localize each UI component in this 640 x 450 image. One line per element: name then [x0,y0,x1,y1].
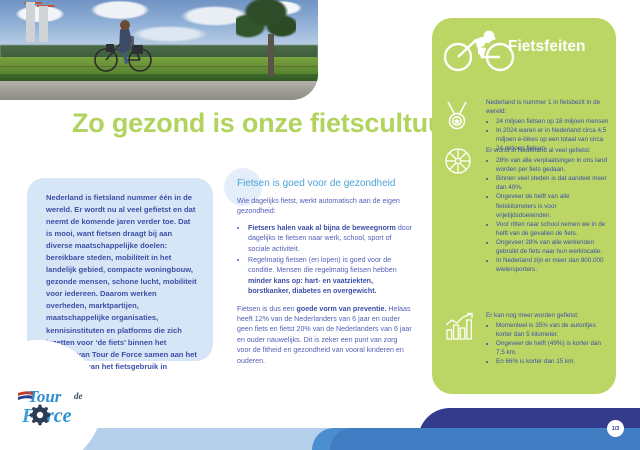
list-item: Voor ritten naar school nemen we in de h… [496,220,610,238]
bullet-bold-tail: minder kans op: hart- en vaatziekten, bo… [248,277,377,295]
facts-panel: Fietsfeiten Nederland is nummer 1 in fie… [432,18,616,394]
road-surface [0,81,318,100]
facts-section-list: Momenteel is 35% van de autoritjes korte… [486,321,610,366]
growth-chart-icon [444,312,476,342]
facts-section-3: Er kan nog meer worden gefietst: Momente… [486,311,610,367]
large-tree [236,0,296,70]
svg-text:Tour: Tour [28,387,62,406]
tower-buildings [26,2,52,42]
list-item: 28% van alle verplaatsingen in ons land … [496,156,610,174]
health-bullet-list: Fietsers halen vaak al bijna de beweegno… [237,223,413,297]
list-item: Ongeveer de helft (49%) is korter dan 7,… [496,339,610,357]
tour-de-force-logo[interactable]: Tour de F rce [16,384,112,432]
slide-page: Zo gezond is onze fietscultuur Nederland… [0,0,640,450]
cyclist-photo-figure [92,14,158,76]
facts-panel-title: Fietsfeiten [508,38,586,56]
bullet-rest: Regelmatig fietsen (en lopen) is goed vo… [248,256,397,274]
closing-pre: Fietsen is dus een [237,305,297,313]
facts-section-lead: Er wordt in Nederland al veel gefietst: [486,146,610,155]
health-section: Fietsen is goed voor de gezondheid Wie d… [237,178,413,372]
list-item: Regelmatig fietsen (en lopen) is goed vo… [248,255,413,297]
hero-photo [0,0,318,100]
bike-wheel-icon [444,147,472,175]
list-item: 24 miljoen fietsen op 18 miljoen mensen [496,117,610,126]
health-intro: Wie dagelijks fietst, werkt automatisch … [237,196,413,217]
facts-section-lead: Er kan nog meer worden gefietst: [486,311,610,320]
list-item: Fietsers halen vaak al bijna de beweegno… [248,223,413,254]
facts-section-list: 28% van alle verplaatsingen in ons land … [486,156,610,274]
list-item: En 66% is korter dan 15 km. [496,357,610,366]
list-item: Momenteel is 35% van de autoritjes korte… [496,321,610,339]
health-heading: Fietsen is goed voor de gezondheid [237,178,413,189]
wave-band-mid-2 [330,428,640,450]
chainring-icon [30,405,51,426]
page-title: Zo gezond is onze fietscultuur [72,108,455,139]
svg-text:de: de [74,391,83,401]
list-item: In Nederland zijn er meer dan 900.000 wi… [496,256,610,274]
bullet-bold-lead: Fietsers halen vaak al bijna de beweegno… [248,224,396,232]
list-item: Ongeveer de helft van alle fietskilomete… [496,192,610,219]
tree-trunk [268,34,274,76]
page-indicator: 1/3 [607,420,624,437]
facts-section-2: Er wordt in Nederland al veel gefietst: … [486,146,610,274]
medal-icon [444,100,470,130]
closing-bold: goede vorm van preventie. [297,305,387,313]
intro-card: Nederland is fietsland nummer één in de … [27,178,213,361]
list-item: Ongeveer 28% van alle werkenden gebruikt… [496,238,610,256]
health-closing: Fietsen is dus een goede vorm van preven… [237,304,413,366]
facts-section-lead: Nederland is nummer 1 in fietsbezit in d… [486,98,610,116]
list-item: Binnen veel steden is dat aandeel meer d… [496,174,610,192]
closing-post: Helaas heeft 12% van de Nederlanders van… [237,305,412,365]
